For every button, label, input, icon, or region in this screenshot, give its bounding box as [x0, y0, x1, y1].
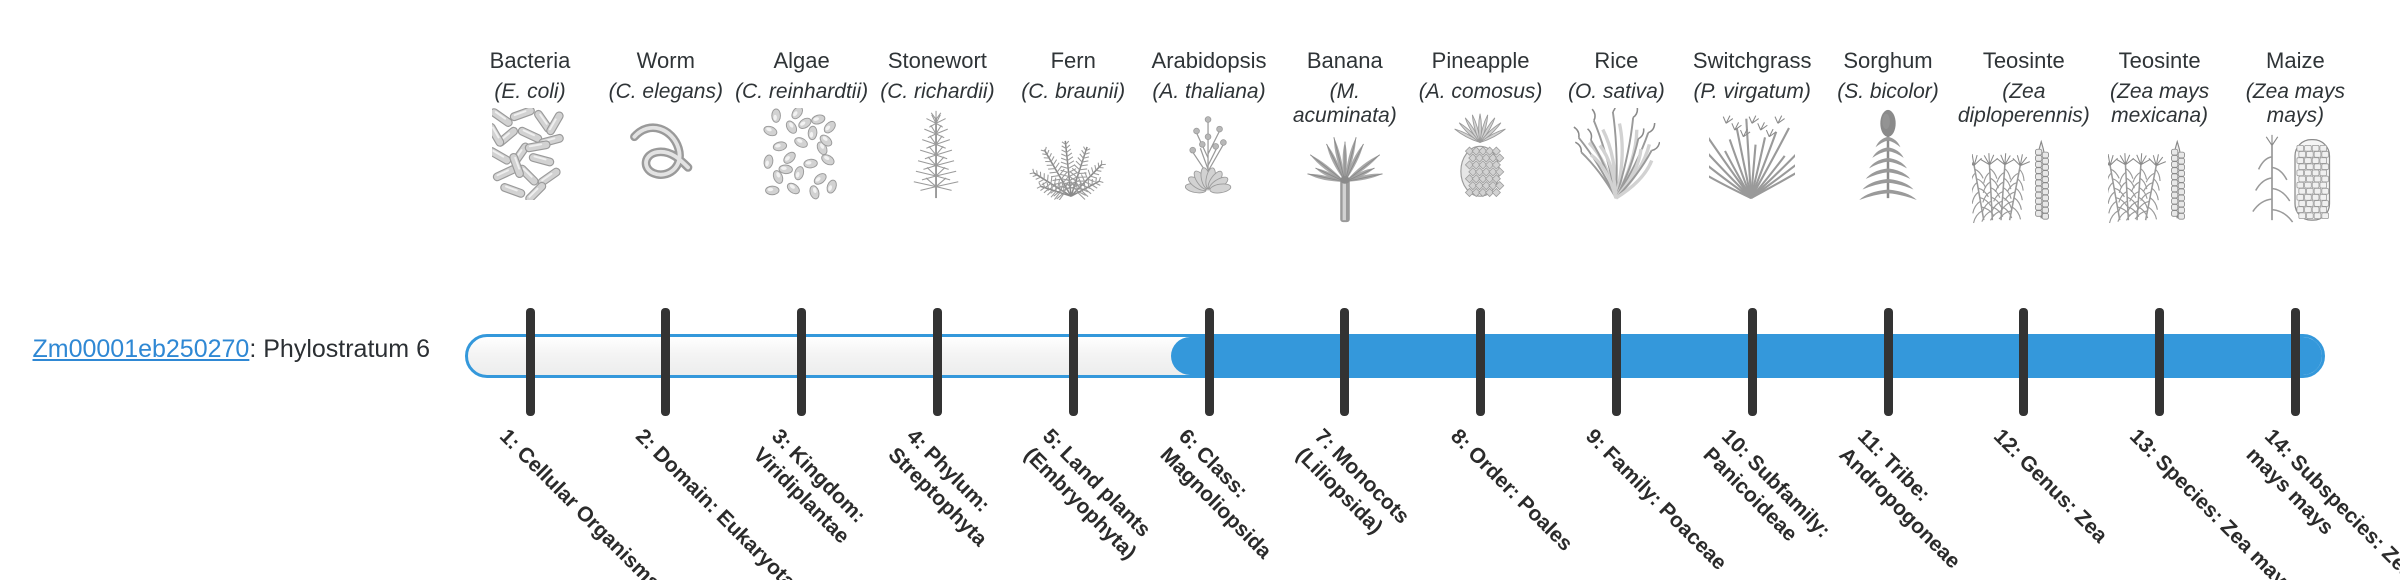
rank-text: Phylum: Streptophyta — [884, 442, 995, 551]
rank-number: 12: — [1989, 425, 2027, 463]
species-latin-name: (C. braunii) — [1005, 80, 1141, 104]
species-latin-name: (S. bicolor) — [1820, 80, 1956, 104]
sorghum-icon — [1820, 108, 1956, 200]
tick-mark — [1476, 308, 1485, 416]
rank-text: Kingdom: Viridiplantae — [748, 442, 869, 548]
rank-text: Monocots (Liliopsida) — [1291, 442, 1413, 538]
tick-mark — [2291, 308, 2300, 416]
rank-text: Subfamily: Panicoideae — [1699, 443, 1835, 546]
species-column: Pineapple(A. comosus) — [1413, 48, 1549, 200]
teosinte-diplo-icon — [1956, 132, 2092, 224]
species-common-name: Worm — [598, 48, 734, 74]
species-latin-name: (Zea diploperennis) — [1956, 80, 2092, 128]
stonewort-icon — [869, 108, 1005, 200]
species-common-name: Teosinte — [2092, 48, 2228, 74]
species-column: Algae(C. reinhardtii) — [734, 48, 870, 200]
tick-mark — [1340, 308, 1349, 416]
species-common-name: Bacteria — [462, 48, 598, 74]
species-column: Maize(Zea mays mays) — [2227, 48, 2363, 224]
rank-number: 13: — [2125, 425, 2163, 463]
species-column: Teosinte(Zea mays mexicana) — [2092, 48, 2228, 224]
species-latin-name: (P. virgatum) — [1684, 80, 1820, 104]
switchgrass-icon — [1684, 108, 1820, 200]
gene-phylostratum-label: Zm00001eb250270: Phylostratum 6 — [0, 334, 430, 364]
species-column: Arabidopsis(A. thaliana) — [1141, 48, 1277, 200]
tick-mark — [2155, 308, 2164, 416]
tick-mark — [1748, 308, 1757, 416]
species-latin-name: (Zea mays mexicana) — [2092, 80, 2228, 128]
rice-icon — [1548, 108, 1684, 200]
maize-icon — [2227, 132, 2363, 224]
tick-mark — [1069, 308, 1078, 416]
tick-mark — [526, 308, 535, 416]
tick-mark — [797, 308, 806, 416]
species-latin-name: (C. elegans) — [598, 80, 734, 104]
species-column: Rice(O. sativa) — [1548, 48, 1684, 200]
species-common-name: Fern — [1005, 48, 1141, 74]
pineapple-icon — [1413, 108, 1549, 200]
species-column: Worm(C. elegans) — [598, 48, 734, 200]
gene-label-separator: : — [249, 335, 263, 363]
fern-icon — [1005, 108, 1141, 200]
banana-icon — [1277, 132, 1413, 224]
species-column: Stonewort(C. richardii) — [869, 48, 1005, 200]
species-common-name: Switchgrass — [1684, 48, 1820, 74]
phylostratum-figure: Zm00001eb250270: Phylostratum 6 Bacteria… — [0, 0, 2400, 580]
teosinte-mex-icon — [2092, 132, 2228, 224]
species-latin-name: (E. coli) — [462, 80, 598, 104]
species-latin-name: (O. sativa) — [1548, 80, 1684, 104]
species-column: Switchgrass(P. virgatum) — [1684, 48, 1820, 200]
rank-text: Order: Poales — [1463, 442, 1577, 556]
tick-mark — [1884, 308, 1893, 416]
tick-mark — [1205, 308, 1214, 416]
species-common-name: Algae — [734, 48, 870, 74]
species-column: Bacteria(E. coli) — [462, 48, 598, 200]
rank-text: Cellular Organisms — [512, 442, 664, 580]
arabidopsis-icon — [1141, 108, 1277, 200]
species-latin-name: (M. acuminata) — [1277, 80, 1413, 128]
worm-icon — [598, 108, 734, 200]
phylostratum-progress-track[interactable] — [465, 334, 2325, 378]
species-common-name: Teosinte — [1956, 48, 2092, 74]
species-common-name: Pineapple — [1413, 48, 1549, 74]
tick-mark — [661, 308, 670, 416]
gene-id-link[interactable]: Zm00001eb250270 — [32, 335, 249, 363]
species-column: Teosinte(Zea diploperennis) — [1956, 48, 2092, 224]
phylostratum-value-text: Phylostratum 6 — [263, 335, 430, 363]
species-latin-name: (Zea mays mays) — [2227, 80, 2363, 128]
species-column: Sorghum(S. bicolor) — [1820, 48, 1956, 200]
species-column: Banana(M. acuminata) — [1277, 48, 1413, 224]
species-common-name: Banana — [1277, 48, 1413, 74]
species-common-name: Maize — [2227, 48, 2363, 74]
tick-mark — [2019, 308, 2028, 416]
species-latin-name: (A. thaliana) — [1141, 80, 1277, 104]
species-common-name: Arabidopsis — [1141, 48, 1277, 74]
species-latin-name: (C. richardii) — [869, 80, 1005, 104]
species-latin-name: (C. reinhardtii) — [734, 80, 870, 104]
species-common-name: Stonewort — [869, 48, 1005, 74]
algae-icon — [734, 108, 870, 200]
bacteria-icon — [462, 108, 598, 200]
rank-text: Genus: Zea — [2014, 450, 2111, 547]
species-common-name: Rice — [1548, 48, 1684, 74]
species-column: Fern(C. braunii) — [1005, 48, 1141, 200]
tick-mark — [933, 308, 942, 416]
tick-mark — [1612, 308, 1621, 416]
species-latin-name: (A. comosus) — [1413, 80, 1549, 104]
species-common-name: Sorghum — [1820, 48, 1956, 74]
